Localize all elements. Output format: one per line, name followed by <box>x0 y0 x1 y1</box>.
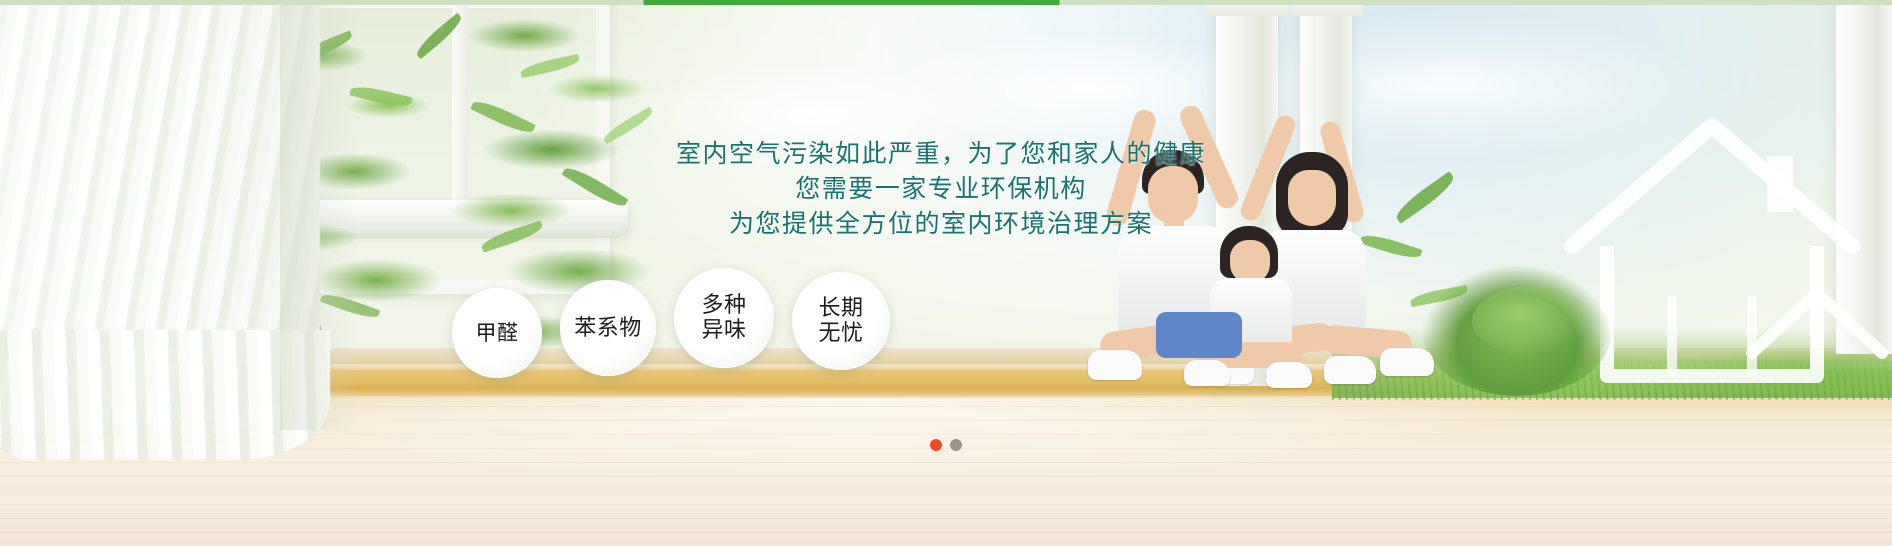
family-photo <box>1080 98 1530 428</box>
feature-badge-list: 甲醛 苯系物 多种 异味 长期 无忧 <box>452 268 890 378</box>
carousel-dot-2[interactable] <box>950 439 962 451</box>
mom-shoe-left <box>1380 348 1434 376</box>
nav-bottom-border <box>0 0 1892 5</box>
badge-odors[interactable]: 多种 异味 <box>674 268 774 368</box>
carousel-dot-1[interactable] <box>930 439 942 451</box>
badge-longterm[interactable]: 长期 无忧 <box>792 272 890 370</box>
carousel-dots <box>0 439 1892 451</box>
house-outline-small <box>1742 268 1892 388</box>
child-shoe-left <box>1184 360 1230 386</box>
badge-formaldehyde-line1: 甲醛 <box>476 321 519 346</box>
badge-formaldehyde[interactable]: 甲醛 <box>452 288 542 378</box>
dad-shoe-left <box>1088 350 1142 380</box>
hero-banner: 室内空气污染如此严重，为了您和家人的健康 您需要一家专业环保机构 为您提供全方位… <box>0 0 1892 546</box>
badge-odors-line1: 多种 <box>701 293 746 318</box>
child-shoe-right <box>1266 362 1312 388</box>
badge-longterm-line1: 长期 <box>818 296 863 321</box>
badge-longterm-line2: 无忧 <box>818 321 863 346</box>
badge-benzene-line1: 苯系物 <box>574 316 642 341</box>
dad-shorts <box>1156 312 1242 358</box>
mom-face <box>1288 170 1336 226</box>
curtain-shadow <box>280 0 360 430</box>
mom-shoe-right <box>1324 356 1376 384</box>
badge-odors-line2: 异味 <box>701 318 746 343</box>
badge-benzene[interactable]: 苯系物 <box>560 280 656 376</box>
